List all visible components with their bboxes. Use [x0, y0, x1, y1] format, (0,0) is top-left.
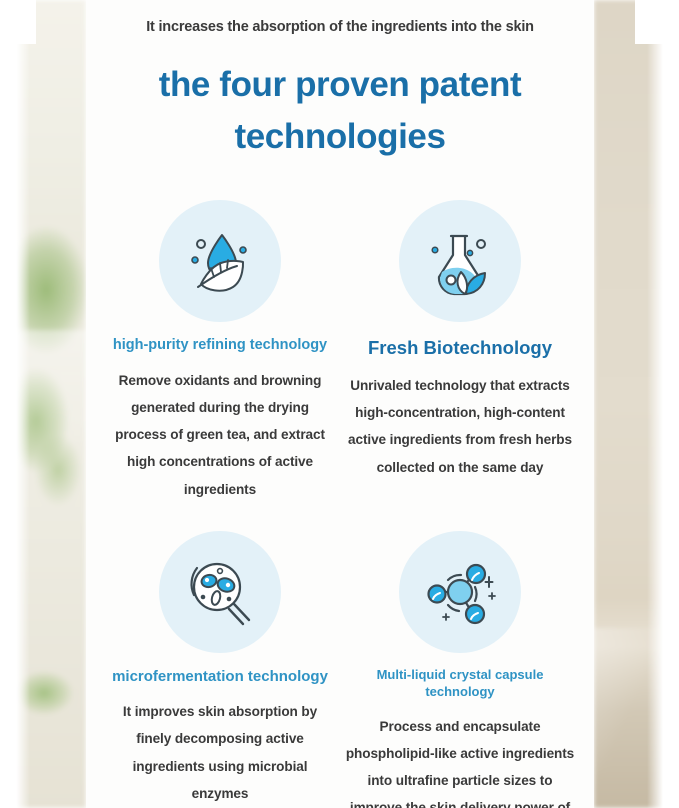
icon-badge [159, 531, 281, 653]
page-title: the four proven patent technologies [100, 59, 580, 164]
page-title-line-1: the four proven patent [159, 65, 522, 104]
icon-badge [159, 200, 281, 322]
water-drop-leaf-icon [181, 222, 259, 300]
technology-card-grid: high-purity refining technology Remove o… [100, 200, 580, 808]
technology-card: Fresh Biotechnology Unrivaled technology… [340, 200, 580, 503]
card-description: Unrivaled technology that extracts high-… [344, 372, 576, 481]
page-margin-left [0, 0, 30, 808]
technology-card: high-purity refining technology Remove o… [100, 200, 340, 503]
card-title: high-purity refining technology [113, 336, 327, 355]
card-description: It improves skin absorption by finely de… [104, 698, 336, 807]
molecule-sparkle-icon [421, 553, 499, 631]
content-panel: It increases the absorption of the ingre… [86, 0, 594, 808]
technology-card: microfermentation technology It improves… [100, 531, 340, 808]
card-title: microfermentation technology [112, 667, 328, 687]
infographic-stage: It increases the absorption of the ingre… [0, 0, 679, 808]
card-description: Remove oxidants and browning generated d… [104, 367, 336, 503]
card-description: Process and encapsulate phospholipid-lik… [344, 713, 576, 808]
icon-badge [399, 531, 521, 653]
technology-card: Multi-liquid crystal capsule technology … [340, 531, 580, 808]
page-margin-right-top [635, 0, 679, 44]
icon-badge [399, 200, 521, 322]
card-title: Multi-liquid crystal capsule technology [344, 667, 576, 701]
card-title: Fresh Biotechnology [368, 336, 552, 360]
kicker-text: It increases the absorption of the ingre… [100, 18, 580, 37]
flask-leaf-icon [421, 222, 499, 300]
page-margin-right [647, 0, 679, 808]
page-title-line-2: technologies [234, 117, 445, 156]
magnifier-microbe-icon [181, 553, 259, 631]
page-margin-left-top [0, 0, 36, 44]
